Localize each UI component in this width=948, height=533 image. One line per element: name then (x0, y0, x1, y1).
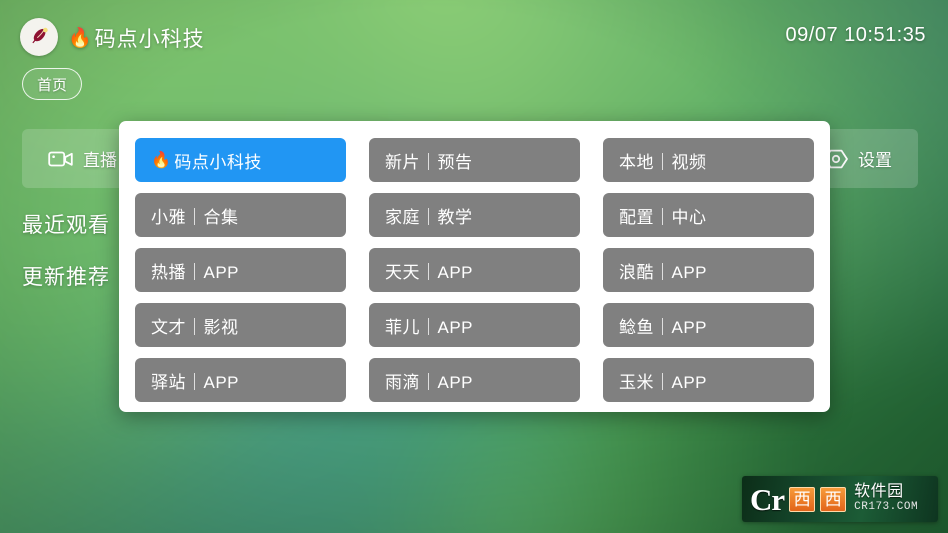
app-item-label: 天天｜APP (385, 258, 473, 283)
watermark-name: 软件园 (854, 484, 918, 501)
app-item-label: 本地｜视频 (619, 148, 707, 173)
nav-item-live-label: 直播 (83, 146, 117, 171)
app-item-label: 菲儿｜APP (385, 313, 473, 338)
watermark-box-2: 西 (820, 487, 846, 512)
app-item[interactable]: 菲儿｜APP (369, 303, 580, 347)
app-item-label: 家庭｜教学 (385, 203, 473, 228)
app-item-label: 码点小科技 (174, 148, 262, 173)
app-item[interactable]: 🔥码点小科技 (135, 138, 346, 182)
watermark: Cr 西 西 软件园 CR173.COM (742, 476, 938, 522)
nav-item-settings[interactable]: 设置 (823, 146, 892, 171)
app-item-label: 驿站｜APP (151, 368, 239, 393)
tv-launcher-screen: 🔥 码点小科技 09/07 10:51:35 首页 直播 设置 最近观看 更新推… (0, 0, 948, 533)
app-item-label: 鲶鱼｜APP (619, 313, 707, 338)
section-label-updates: 更新推荐 (22, 261, 110, 291)
nav-item-live[interactable]: 直播 (48, 146, 117, 171)
app-item[interactable]: 雨滴｜APP (369, 358, 580, 402)
watermark-logo: Cr (750, 484, 784, 515)
watermark-url: CR173.COM (854, 501, 918, 514)
home-button[interactable]: 首页 (22, 68, 82, 100)
app-item-label: 热播｜APP (151, 258, 239, 283)
nav-item-settings-label: 设置 (858, 146, 892, 171)
video-camera-icon (48, 148, 74, 170)
app-item[interactable]: 玉米｜APP (603, 358, 814, 402)
app-item-label: 雨滴｜APP (385, 368, 473, 393)
app-item[interactable]: 驿站｜APP (135, 358, 346, 402)
app-item[interactable]: 浪酷｜APP (603, 248, 814, 292)
app-item-label: 文才｜影视 (151, 313, 239, 338)
app-item-label: 浪酷｜APP (619, 258, 707, 283)
app-item[interactable]: 热播｜APP (135, 248, 346, 292)
avatar[interactable] (20, 18, 58, 56)
watermark-text-group: 软件园 CR173.COM (854, 484, 918, 514)
app-item[interactable]: 家庭｜教学 (369, 193, 580, 237)
app-picker-grid: 🔥码点小科技新片｜预告本地｜视频小雅｜合集家庭｜教学配置｜中心热播｜APP天天｜… (135, 138, 814, 402)
app-item[interactable]: 鲶鱼｜APP (603, 303, 814, 347)
header-bar: 🔥 码点小科技 09/07 10:51:35 首页 (0, 0, 948, 70)
flame-icon: 🔥 (151, 150, 171, 170)
page-title: 🔥 码点小科技 (68, 23, 205, 53)
app-item[interactable]: 天天｜APP (369, 248, 580, 292)
app-title-text: 码点小科技 (95, 23, 205, 53)
section-label-recent: 最近观看 (22, 209, 110, 239)
flame-icon: 🔥 (68, 26, 93, 50)
app-item[interactable]: 小雅｜合集 (135, 193, 346, 237)
app-item[interactable]: 配置｜中心 (603, 193, 814, 237)
app-item-label: 玉米｜APP (619, 368, 707, 393)
app-item-label: 小雅｜合集 (151, 203, 239, 228)
app-item[interactable]: 文才｜影视 (135, 303, 346, 347)
watermark-box-1: 西 (789, 487, 815, 512)
app-item-label: 新片｜预告 (385, 148, 473, 173)
clock: 09/07 10:51:35 (786, 24, 926, 47)
app-item-label: 配置｜中心 (619, 203, 707, 228)
feather-avatar-icon (27, 25, 51, 49)
app-item[interactable]: 本地｜视频 (603, 138, 814, 182)
app-picker-dialog: 🔥码点小科技新片｜预告本地｜视频小雅｜合集家庭｜教学配置｜中心热播｜APP天天｜… (119, 121, 830, 412)
app-item[interactable]: 新片｜预告 (369, 138, 580, 182)
